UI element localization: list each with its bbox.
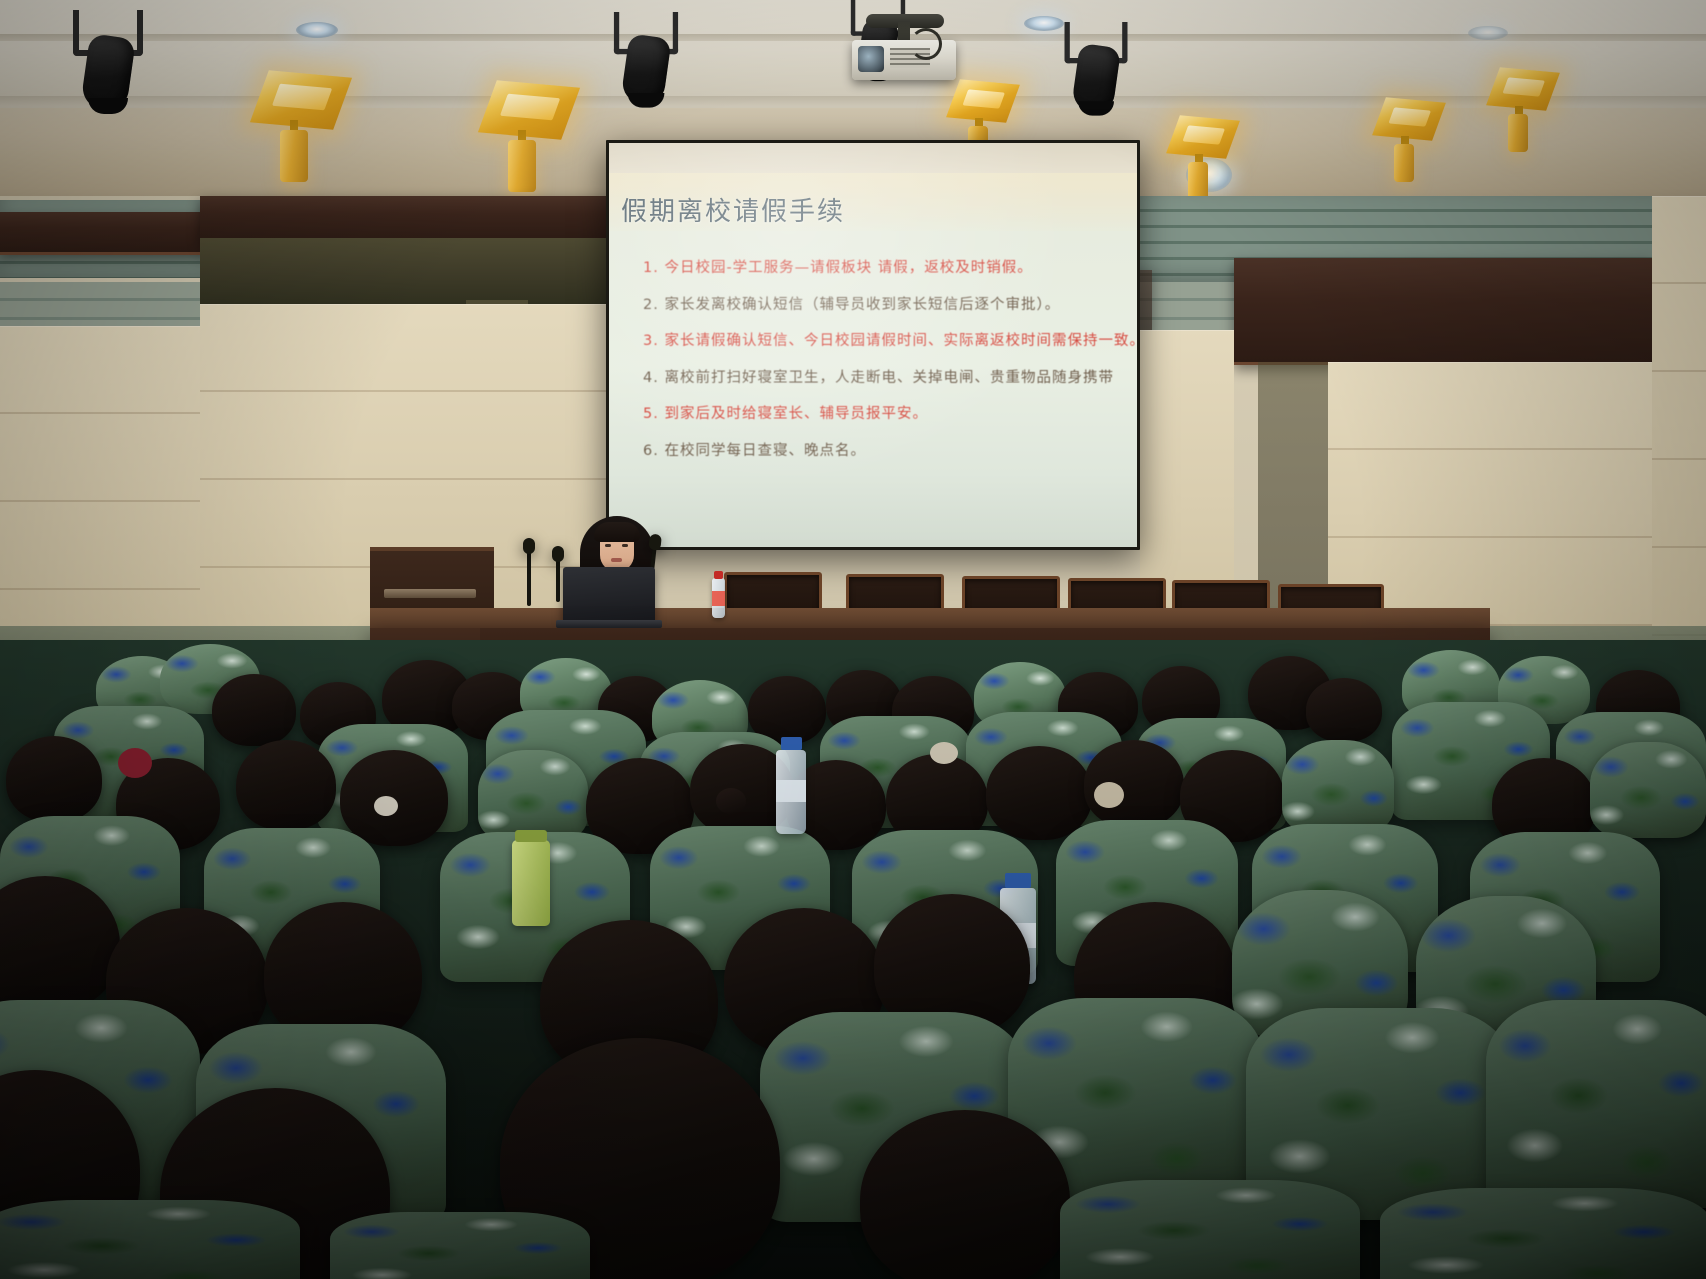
slide-line: 6. 在校同学每日查寝、晚点名。 <box>643 444 1113 459</box>
slide-line: 3. 家长请假确认短信、今日校园请假时间、实际离返校时间需保持一致。 <box>643 334 1113 349</box>
microphone-icon <box>556 556 560 602</box>
hair-bun <box>716 788 746 814</box>
table-bottle <box>712 578 725 618</box>
student-uniform <box>330 1212 590 1279</box>
student-uniform <box>1486 1000 1706 1208</box>
timber-band <box>0 212 212 255</box>
slide-line: 2. 家长发离校确认短信（辅导员收到家长短信后逐个审批）。 <box>643 298 1113 313</box>
slide-title: 假期离校请假手续 <box>621 191 1117 228</box>
student-cap <box>1590 742 1706 838</box>
timber-band <box>200 196 612 243</box>
audience-area <box>0 640 1706 1279</box>
student-uniform <box>1380 1188 1706 1279</box>
student-head <box>212 674 296 746</box>
thermos-bottle <box>512 840 550 926</box>
student-head <box>860 1110 1070 1279</box>
student-uniform <box>1060 1180 1360 1279</box>
student-head <box>236 740 336 830</box>
slide-line: 4. 离校前打扫好寝室卫生，人走断电、关掉电闸、贵重物品随身携带 <box>643 371 1113 386</box>
hair-clip <box>930 742 958 764</box>
timber-band <box>1234 258 1652 365</box>
hair-tie <box>118 748 152 778</box>
wall-alcove <box>200 238 612 304</box>
student-cap <box>1282 740 1394 834</box>
downlight-icon <box>296 22 338 38</box>
slide-line: 5. 到家后及时给寝室长、辅导员报平安。 <box>643 407 1113 422</box>
laptop <box>563 567 655 621</box>
water-bottle <box>776 750 806 834</box>
hair-bun <box>1094 782 1124 808</box>
student-head <box>1306 678 1382 742</box>
downlight-icon <box>1024 16 1064 31</box>
wall-slat-panel <box>0 282 208 326</box>
student-uniform <box>0 1200 300 1279</box>
slide-line: 1. 今日校园-学工服务—请假板块 请假，返校及时销假。 <box>643 261 1113 276</box>
wall-panel-seam <box>1652 196 1706 678</box>
microphone-icon <box>527 548 531 606</box>
hair-clip <box>374 796 398 816</box>
slide-body: 1. 今日校园-学工服务—请假板块 请假，返校及时销假。 2. 家长发离校确认短… <box>643 261 1113 480</box>
student-head <box>986 746 1092 840</box>
lecture-hall-photo: 假期离校请假手续 1. 今日校园-学工服务—请假板块 请假，返校及时销假。 2.… <box>0 0 1706 1279</box>
student-head <box>6 736 102 822</box>
downlight-icon <box>1468 26 1508 40</box>
projection-screen: 假期离校请假手续 1. 今日校园-学工服务—请假板块 请假，返校及时销假。 2.… <box>606 140 1140 550</box>
student-cap <box>478 750 588 842</box>
